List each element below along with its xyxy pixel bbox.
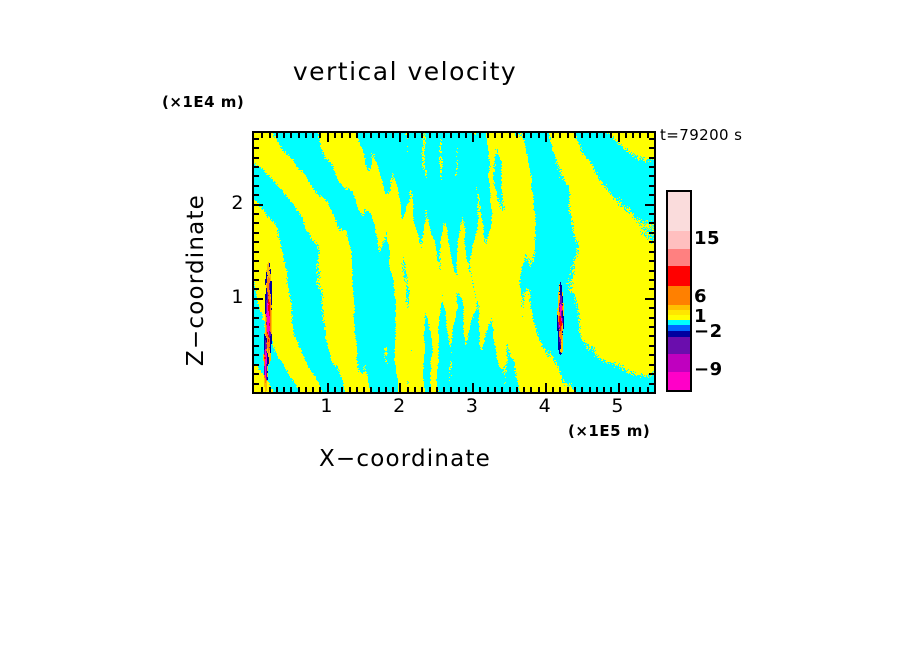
y-tick-right: [649, 307, 654, 309]
x-tick-top: [443, 133, 445, 138]
x-tick-bottom: [574, 387, 576, 392]
x-tick-top: [530, 133, 532, 138]
y-tick-right: [649, 222, 654, 224]
x-tick-top: [552, 133, 554, 138]
colorbar-tick-label: 15: [694, 228, 720, 249]
x-tick-bottom: [479, 387, 481, 392]
y-tick-label: 2: [212, 192, 244, 214]
x-tick-top: [567, 133, 569, 138]
y-tick-left: [254, 307, 259, 309]
x-tick-top: [639, 133, 641, 138]
y-tick-left: [254, 260, 259, 262]
x-tick-top: [341, 133, 343, 138]
x-tick-bottom: [276, 387, 278, 392]
x-tick-bottom: [632, 387, 634, 392]
y-tick-left: [254, 157, 259, 159]
x-tick-bottom: [363, 387, 365, 392]
x-tick-label: 3: [452, 395, 492, 417]
y-tick-left: [254, 185, 259, 187]
y-tick-left: [254, 222, 259, 224]
x-tick-bottom: [414, 387, 416, 392]
y-tick-left: [254, 345, 259, 347]
x-tick-top: [610, 133, 612, 138]
x-tick-bottom: [458, 387, 460, 392]
y-tick-left: [254, 288, 259, 290]
y-tick-label: 1: [212, 286, 244, 308]
x-tick-top: [414, 133, 416, 138]
x-tick-bottom: [399, 383, 401, 392]
x-tick-bottom: [603, 387, 605, 392]
y-tick-right: [649, 345, 654, 347]
x-tick-bottom: [538, 387, 540, 392]
colorbar: [666, 190, 692, 392]
y-tick-left: [254, 317, 259, 319]
x-tick-bottom: [349, 387, 351, 392]
page-title: vertical velocity: [0, 57, 857, 86]
x-tick-top: [276, 133, 278, 138]
x-tick-top: [589, 133, 591, 138]
y-tick-left: [254, 326, 259, 328]
y-tick-right: [649, 185, 654, 187]
y-tick-right: [649, 157, 654, 159]
colorbar-band: [668, 231, 690, 249]
x-tick-top: [436, 133, 438, 138]
vertical-velocity-field: [254, 133, 654, 392]
x-tick-bottom: [552, 387, 554, 392]
x-tick-bottom: [618, 383, 620, 392]
x-tick-top: [290, 133, 292, 138]
y-tick-left: [254, 335, 259, 337]
x-tick-bottom: [545, 383, 547, 392]
x-tick-top: [363, 133, 365, 138]
x-tick-bottom: [305, 387, 307, 392]
y-tick-left: [254, 204, 263, 206]
x-tick-bottom: [581, 387, 583, 392]
x-tick-bottom: [429, 387, 431, 392]
x-tick-top: [654, 133, 656, 138]
y-tick-right: [649, 383, 654, 385]
x-tick-top: [479, 133, 481, 138]
x-tick-bottom: [356, 387, 358, 392]
x-tick-bottom: [436, 387, 438, 392]
x-tick-top: [538, 133, 540, 138]
x-tick-top: [603, 133, 605, 138]
y-axis-unit-label: (×1E4 m): [162, 93, 244, 111]
x-tick-bottom: [261, 387, 263, 392]
y-tick-right: [649, 166, 654, 168]
x-tick-bottom: [370, 387, 372, 392]
x-tick-top: [501, 133, 503, 138]
x-tick-bottom: [334, 387, 336, 392]
colorbar-tick-label: 6: [694, 286, 707, 307]
x-tick-bottom: [654, 387, 656, 392]
y-tick-right: [649, 241, 654, 243]
colorbar-tick-label: −2: [694, 321, 723, 342]
x-tick-bottom: [647, 387, 649, 392]
colorbar-band: [668, 266, 690, 285]
x-tick-top: [305, 133, 307, 138]
colorbar-tick-label: −9: [694, 359, 723, 380]
timestamp-label: t=79200 s: [660, 126, 742, 144]
x-tick-bottom: [523, 387, 525, 392]
x-tick-top: [312, 133, 314, 138]
y-tick-left: [254, 298, 263, 300]
x-tick-top: [465, 133, 467, 138]
y-tick-right: [649, 213, 654, 215]
x-tick-top: [269, 133, 271, 138]
y-tick-right: [649, 147, 654, 149]
x-tick-top: [574, 133, 576, 138]
x-tick-label: 1: [307, 395, 347, 417]
x-tick-top: [487, 133, 489, 138]
x-tick-top: [261, 133, 263, 138]
x-tick-top: [421, 133, 423, 138]
y-tick-left: [254, 147, 259, 149]
x-tick-top: [378, 133, 380, 138]
y-tick-left: [254, 251, 259, 253]
x-tick-bottom: [487, 387, 489, 392]
x-tick-top: [458, 133, 460, 138]
x-tick-bottom: [319, 387, 321, 392]
x-tick-label: 4: [525, 395, 565, 417]
x-tick-bottom: [443, 387, 445, 392]
x-tick-bottom: [385, 387, 387, 392]
x-tick-bottom: [589, 387, 591, 392]
x-tick-bottom: [559, 387, 561, 392]
colorbar-band: [668, 372, 690, 390]
x-tick-bottom: [472, 383, 474, 392]
y-axis-title: Z−coordinate: [183, 160, 209, 400]
y-tick-left: [254, 383, 259, 385]
x-tick-bottom: [465, 387, 467, 392]
x-tick-bottom: [421, 387, 423, 392]
x-tick-top: [523, 133, 525, 138]
colorbar-band: [668, 249, 690, 267]
y-tick-left: [254, 175, 259, 177]
x-tick-bottom: [290, 387, 292, 392]
x-tick-bottom: [509, 387, 511, 392]
x-tick-bottom: [639, 387, 641, 392]
y-tick-left: [254, 213, 259, 215]
x-tick-bottom: [450, 387, 452, 392]
y-tick-right: [649, 364, 654, 366]
x-tick-top: [472, 133, 474, 142]
x-tick-label: 5: [598, 395, 638, 417]
x-tick-top: [407, 133, 409, 138]
y-tick-left: [254, 138, 259, 140]
x-tick-top: [494, 133, 496, 138]
y-tick-right: [649, 232, 654, 234]
x-tick-top: [581, 133, 583, 138]
x-tick-bottom: [407, 387, 409, 392]
contour-plot-area: [252, 131, 656, 394]
x-tick-bottom: [392, 387, 394, 392]
x-tick-bottom: [516, 387, 518, 392]
y-tick-right: [649, 260, 654, 262]
y-tick-right: [649, 175, 654, 177]
y-tick-left: [254, 279, 259, 281]
x-tick-top: [370, 133, 372, 138]
y-tick-left: [254, 270, 259, 272]
y-tick-left: [254, 373, 259, 375]
x-tick-top: [625, 133, 627, 138]
colorbar-band: [668, 192, 690, 231]
x-axis-unit-label: (×1E5 m): [568, 422, 650, 440]
x-tick-bottom: [312, 387, 314, 392]
x-tick-bottom: [596, 387, 598, 392]
x-tick-top: [319, 133, 321, 138]
y-tick-right: [645, 298, 654, 300]
y-tick-right: [649, 279, 654, 281]
y-tick-right: [649, 335, 654, 337]
x-tick-top: [618, 133, 620, 142]
x-tick-bottom: [494, 387, 496, 392]
x-tick-top: [596, 133, 598, 138]
y-tick-left: [254, 354, 259, 356]
x-tick-bottom: [298, 387, 300, 392]
y-tick-right: [649, 354, 654, 356]
x-tick-bottom: [501, 387, 503, 392]
y-tick-right: [649, 317, 654, 319]
y-tick-right: [649, 251, 654, 253]
x-tick-bottom: [378, 387, 380, 392]
x-tick-top: [392, 133, 394, 138]
colorbar-band: [668, 354, 690, 372]
x-tick-bottom: [625, 387, 627, 392]
x-tick-top: [559, 133, 561, 138]
x-tick-bottom: [530, 387, 532, 392]
y-tick-right: [645, 204, 654, 206]
x-axis-title: X−coordinate: [0, 446, 857, 472]
x-tick-top: [429, 133, 431, 138]
x-tick-bottom: [610, 387, 612, 392]
colorbar-band: [668, 337, 690, 355]
x-tick-top: [509, 133, 511, 138]
colorbar-band: [668, 286, 690, 305]
x-tick-top: [334, 133, 336, 138]
x-tick-bottom: [327, 383, 329, 392]
x-tick-top: [545, 133, 547, 142]
x-tick-bottom: [283, 387, 285, 392]
y-tick-left: [254, 241, 259, 243]
y-tick-right: [649, 288, 654, 290]
x-tick-top: [356, 133, 358, 138]
y-tick-left: [254, 166, 259, 168]
x-tick-top: [298, 133, 300, 138]
x-tick-top: [450, 133, 452, 138]
x-tick-bottom: [341, 387, 343, 392]
y-tick-right: [649, 373, 654, 375]
x-tick-bottom: [269, 387, 271, 392]
x-tick-top: [327, 133, 329, 142]
y-tick-right: [649, 270, 654, 272]
x-tick-top: [385, 133, 387, 138]
y-tick-left: [254, 364, 259, 366]
y-tick-left: [254, 194, 259, 196]
y-tick-left: [254, 232, 259, 234]
x-tick-top: [516, 133, 518, 138]
x-tick-top: [399, 133, 401, 142]
x-tick-top: [632, 133, 634, 138]
x-tick-label: 2: [379, 395, 419, 417]
y-tick-right: [649, 138, 654, 140]
y-tick-right: [649, 326, 654, 328]
x-tick-top: [349, 133, 351, 138]
x-tick-bottom: [567, 387, 569, 392]
x-tick-top: [283, 133, 285, 138]
y-tick-right: [649, 194, 654, 196]
